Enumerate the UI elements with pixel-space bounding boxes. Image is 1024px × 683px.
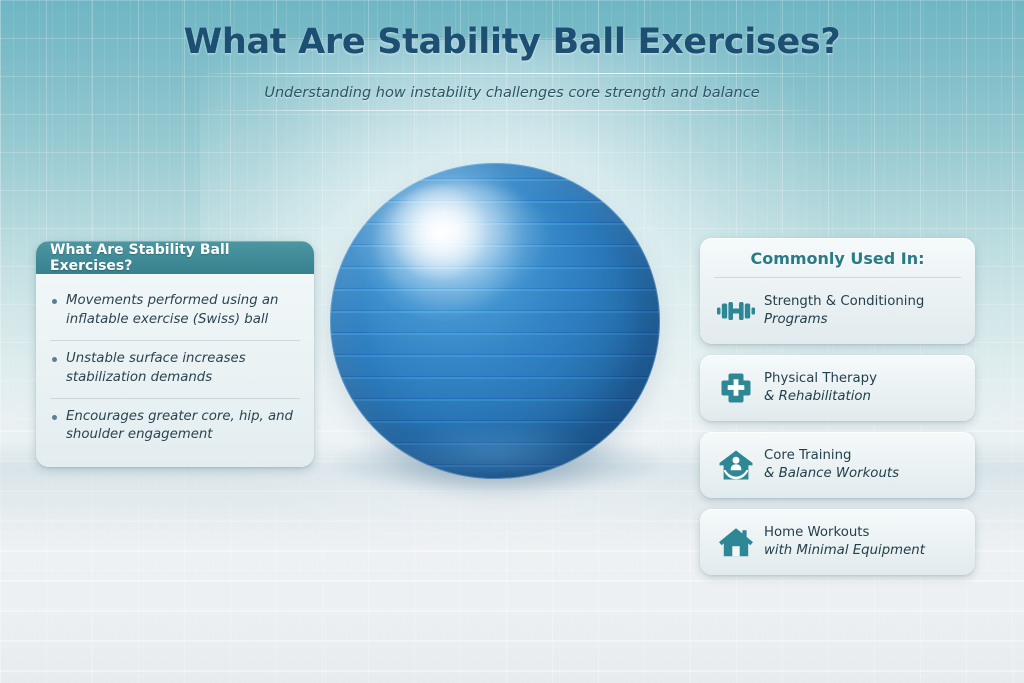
core-training-icon — [714, 445, 758, 485]
commonly-used-in-card: Commonly Used In: — [700, 238, 975, 344]
list-item-line1: Strength & Conditioning — [764, 293, 924, 311]
stability-ball-illustration — [330, 163, 666, 481]
list-item-label: Strength & Conditioning Programs — [764, 293, 924, 330]
definition-card-body: Movements performed using an inflatable … — [36, 274, 314, 467]
list-item-line1: Physical Therapy — [764, 370, 877, 388]
bullet-text: Unstable surface increases stabilization… — [66, 350, 300, 388]
bullet-text: Movements performed using an inflatable … — [66, 292, 300, 330]
stability-ball — [330, 163, 660, 479]
commonly-used-in-panel: Commonly Used In: — [700, 238, 975, 586]
list-item: Strength & Conditioning Programs — [700, 278, 975, 344]
list-item-label: Physical Therapy & Rehabilitation — [764, 370, 877, 407]
definition-card: What Are Stability Ball Exercises? Movem… — [36, 241, 314, 467]
page-title: What Are Stability Ball Exercises? — [0, 22, 1024, 62]
infographic-canvas: What Are Stability Ball Exercises? Under… — [0, 0, 1024, 683]
list-item: Movements performed using an inflatable … — [50, 283, 300, 340]
list-item: Core Training & Balance Workouts — [700, 432, 975, 498]
header: What Are Stability Ball Exercises? Under… — [0, 22, 1024, 111]
subtitle-divider — [208, 110, 816, 111]
bullet-icon — [52, 415, 57, 420]
bullet-icon — [52, 299, 57, 304]
commonly-used-in-title: Commonly Used In: — [714, 238, 961, 278]
bullet-text: Encourages greater core, hip, and should… — [66, 408, 300, 446]
list-item: Physical Therapy & Rehabilitation — [700, 355, 975, 421]
bullet-icon — [52, 357, 57, 362]
title-divider — [208, 73, 816, 74]
page-subtitle: Understanding how instability challenges… — [0, 85, 1024, 101]
commonly-used-in-card: Physical Therapy & Rehabilitation — [700, 355, 975, 421]
list-item-label: Home Workouts with Minimal Equipment — [764, 524, 925, 561]
list-item-line1: Home Workouts — [764, 524, 925, 542]
list-item: Unstable surface increases stabilization… — [50, 340, 300, 398]
dumbbell-icon — [714, 291, 758, 331]
medical-cross-icon — [714, 368, 758, 408]
list-item: Encourages greater core, hip, and should… — [50, 398, 300, 456]
list-item-line1: Core Training — [764, 447, 899, 465]
commonly-used-in-card: Core Training & Balance Workouts — [700, 432, 975, 498]
definition-card-title: What Are Stability Ball Exercises? — [50, 242, 300, 274]
home-icon — [714, 522, 758, 562]
definition-card-header: What Are Stability Ball Exercises? — [36, 241, 314, 274]
list-item-line2: with Minimal Equipment — [764, 542, 925, 560]
list-item-line2: Programs — [764, 311, 924, 329]
list-item-label: Core Training & Balance Workouts — [764, 447, 899, 484]
ball-rim-light — [330, 163, 660, 479]
commonly-used-in-card: Home Workouts with Minimal Equipment — [700, 509, 975, 575]
list-item-line2: & Rehabilitation — [764, 388, 877, 406]
list-item: Home Workouts with Minimal Equipment — [700, 509, 975, 575]
list-item-line2: & Balance Workouts — [764, 465, 899, 483]
